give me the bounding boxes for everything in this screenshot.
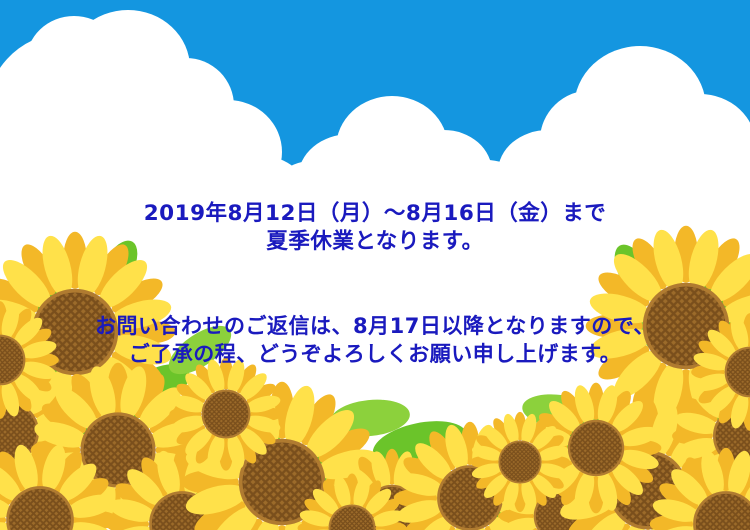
sunflower	[394, 422, 547, 530]
sunflower	[169, 357, 282, 470]
sunflower	[556, 398, 739, 530]
sunflower	[650, 448, 750, 530]
dates-line-1: 2019年8月12日（月）〜8月16日（金）まで	[0, 200, 750, 228]
sunflower	[0, 360, 80, 504]
notice-line-1: お問い合わせのご返信は、8月17日以降となりますので、	[0, 313, 750, 341]
sunflower	[672, 364, 750, 508]
sunflower	[499, 455, 621, 530]
sunflower	[329, 449, 455, 530]
sunflower	[0, 442, 118, 530]
dates-line-2: 夏季休業となります。	[0, 228, 750, 256]
holiday-dates-text: 2019年8月12日（月）〜8月16日（金）まで 夏季休業となります。	[0, 200, 750, 257]
notice-line-2: ご了承の程、どうぞよろしくお願い申し上げます。	[0, 341, 750, 369]
sunflower	[182, 382, 383, 530]
summer-holiday-notice-poster: 2019年8月12日（月）〜8月16日（金）まで 夏季休業となります。 お問い合…	[0, 0, 750, 530]
sunflower	[531, 383, 662, 514]
sunflower	[298, 474, 407, 530]
sunflower	[106, 448, 259, 530]
sunflower	[470, 412, 570, 512]
holiday-notice-text: お問い合わせのご返信は、8月17日以降となりますので、 ご了承の程、どうぞよろし…	[0, 313, 750, 368]
sunflower	[31, 363, 205, 530]
